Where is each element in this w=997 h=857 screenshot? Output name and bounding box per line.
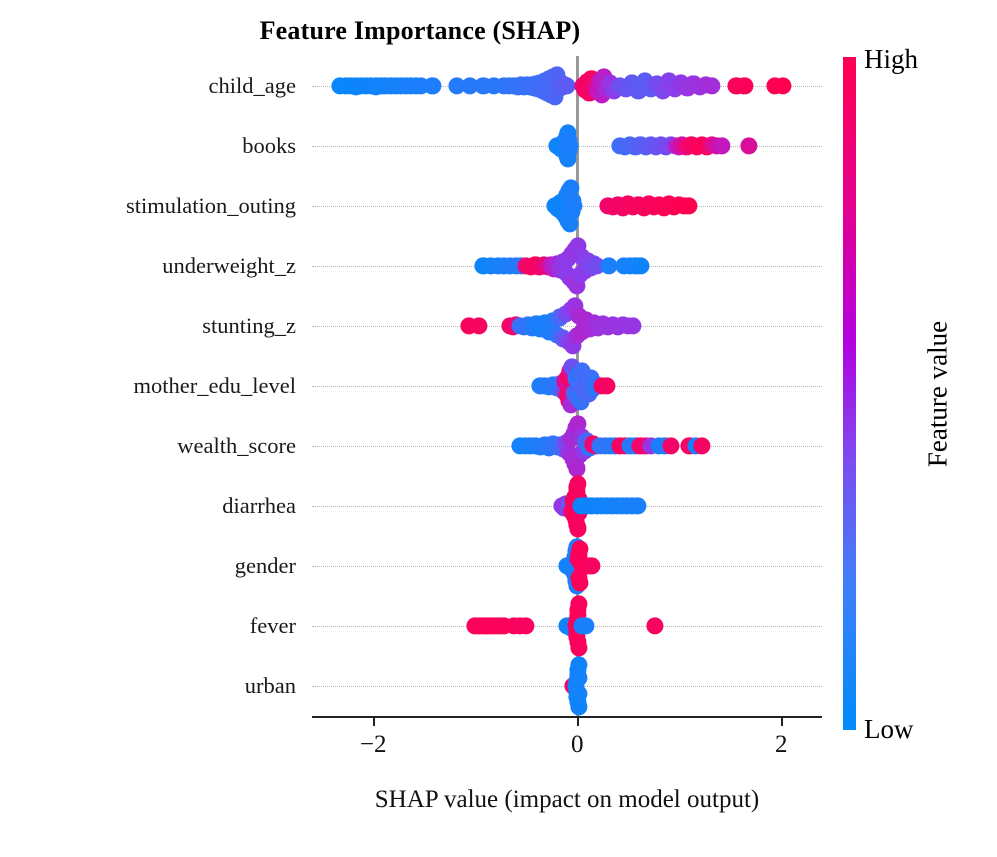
shap-point (571, 639, 588, 656)
shap-point (703, 77, 720, 94)
shap-point (625, 317, 642, 334)
page-title: Feature Importance (SHAP) (0, 16, 840, 46)
shap-point (775, 77, 792, 94)
x-axis-tick-label: −2 (360, 731, 387, 759)
y-axis-tick-labels: child_agebooksstimulation_outingunderwei… (0, 56, 296, 716)
x-axis-tick-label: 2 (775, 731, 788, 759)
x-axis-line (312, 716, 822, 718)
y-axis-label-child-age: child_age (209, 73, 296, 99)
y-axis-label-gender: gender (235, 553, 296, 579)
y-axis-label-stunting-z: stunting_z (202, 313, 296, 339)
shap-point (693, 437, 710, 454)
y-axis-label-mother-edu-level: mother_edu_level (134, 373, 296, 399)
x-axis-tick-label: 0 (571, 731, 584, 759)
y-axis-label-urban: urban (245, 673, 296, 699)
x-axis-tick (577, 716, 579, 726)
shap-point (424, 77, 441, 94)
shap-point (713, 137, 730, 154)
y-axis-label-underweight-z: underweight_z (162, 253, 296, 279)
shap-point (471, 317, 488, 334)
y-axis-label-diarrhea: diarrhea (222, 493, 296, 519)
shap-point (572, 574, 589, 591)
shap-point (570, 520, 587, 537)
shap-point (632, 257, 649, 274)
colorbar-high-label: High (864, 44, 918, 75)
shap-point (646, 617, 663, 634)
colorbar-axis-label: Feature value (923, 321, 954, 467)
row-gridline (312, 326, 822, 327)
shap-point (583, 557, 600, 574)
x-axis-tick (373, 716, 375, 726)
x-axis-label: SHAP value (impact on model output) (312, 786, 822, 814)
shap-point (558, 77, 575, 94)
shap-point (518, 617, 535, 634)
shap-point (662, 437, 679, 454)
y-axis-label-books: books (242, 133, 296, 159)
shap-point (577, 617, 594, 634)
colorbar-low-label: Low (864, 714, 914, 745)
shap-point (598, 377, 615, 394)
y-axis-label-stimulation-outing: stimulation_outing (126, 193, 296, 219)
y-axis-label-wealth-score: wealth_score (177, 433, 296, 459)
colorbar-gradient (843, 57, 856, 730)
shap-point (571, 670, 588, 687)
shap-point (736, 77, 753, 94)
shap-point (629, 497, 646, 514)
plot-area (312, 56, 822, 716)
shap-point (740, 137, 757, 154)
shap-beeswarm-figure: Feature Importance (SHAP) child_agebooks… (0, 0, 997, 857)
y-axis-label-fever: fever (250, 613, 296, 639)
shap-point (680, 197, 697, 214)
x-axis-tick (781, 716, 783, 726)
